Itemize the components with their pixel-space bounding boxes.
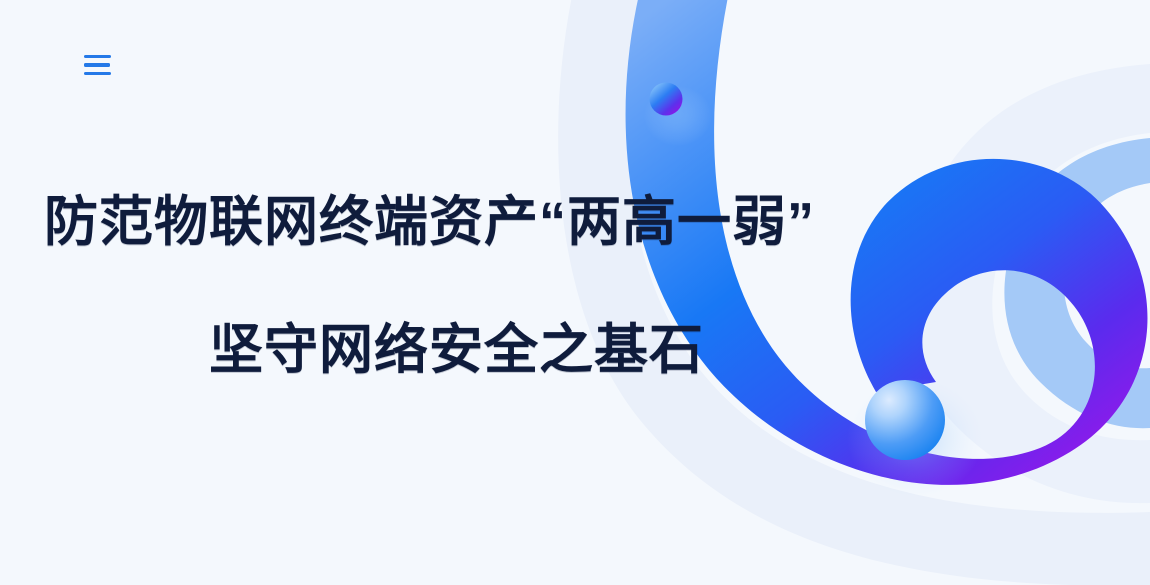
hamburger-menu-icon[interactable] (84, 52, 114, 78)
hamburger-bar-middle (84, 63, 110, 67)
title-line-1: 防范物联网终端资产“两高一弱” (0, 186, 900, 258)
slide-canvas: 防范物联网终端资产“两高一弱” 坚守网络安全之基石 (0, 0, 1150, 585)
hamburger-bar-top (84, 55, 111, 59)
hamburger-bar-bottom (84, 72, 111, 76)
large-gradient-sphere (847, 378, 983, 498)
inner-light-band (907, 64, 1150, 503)
page-title: 防范物联网终端资产“两高一弱” 坚守网络安全之基石 (0, 186, 900, 386)
small-gradient-sphere (644, 83, 712, 147)
light-blue-arc (1004, 138, 1150, 428)
title-line-2: 坚守网络安全之基石 (0, 314, 900, 386)
